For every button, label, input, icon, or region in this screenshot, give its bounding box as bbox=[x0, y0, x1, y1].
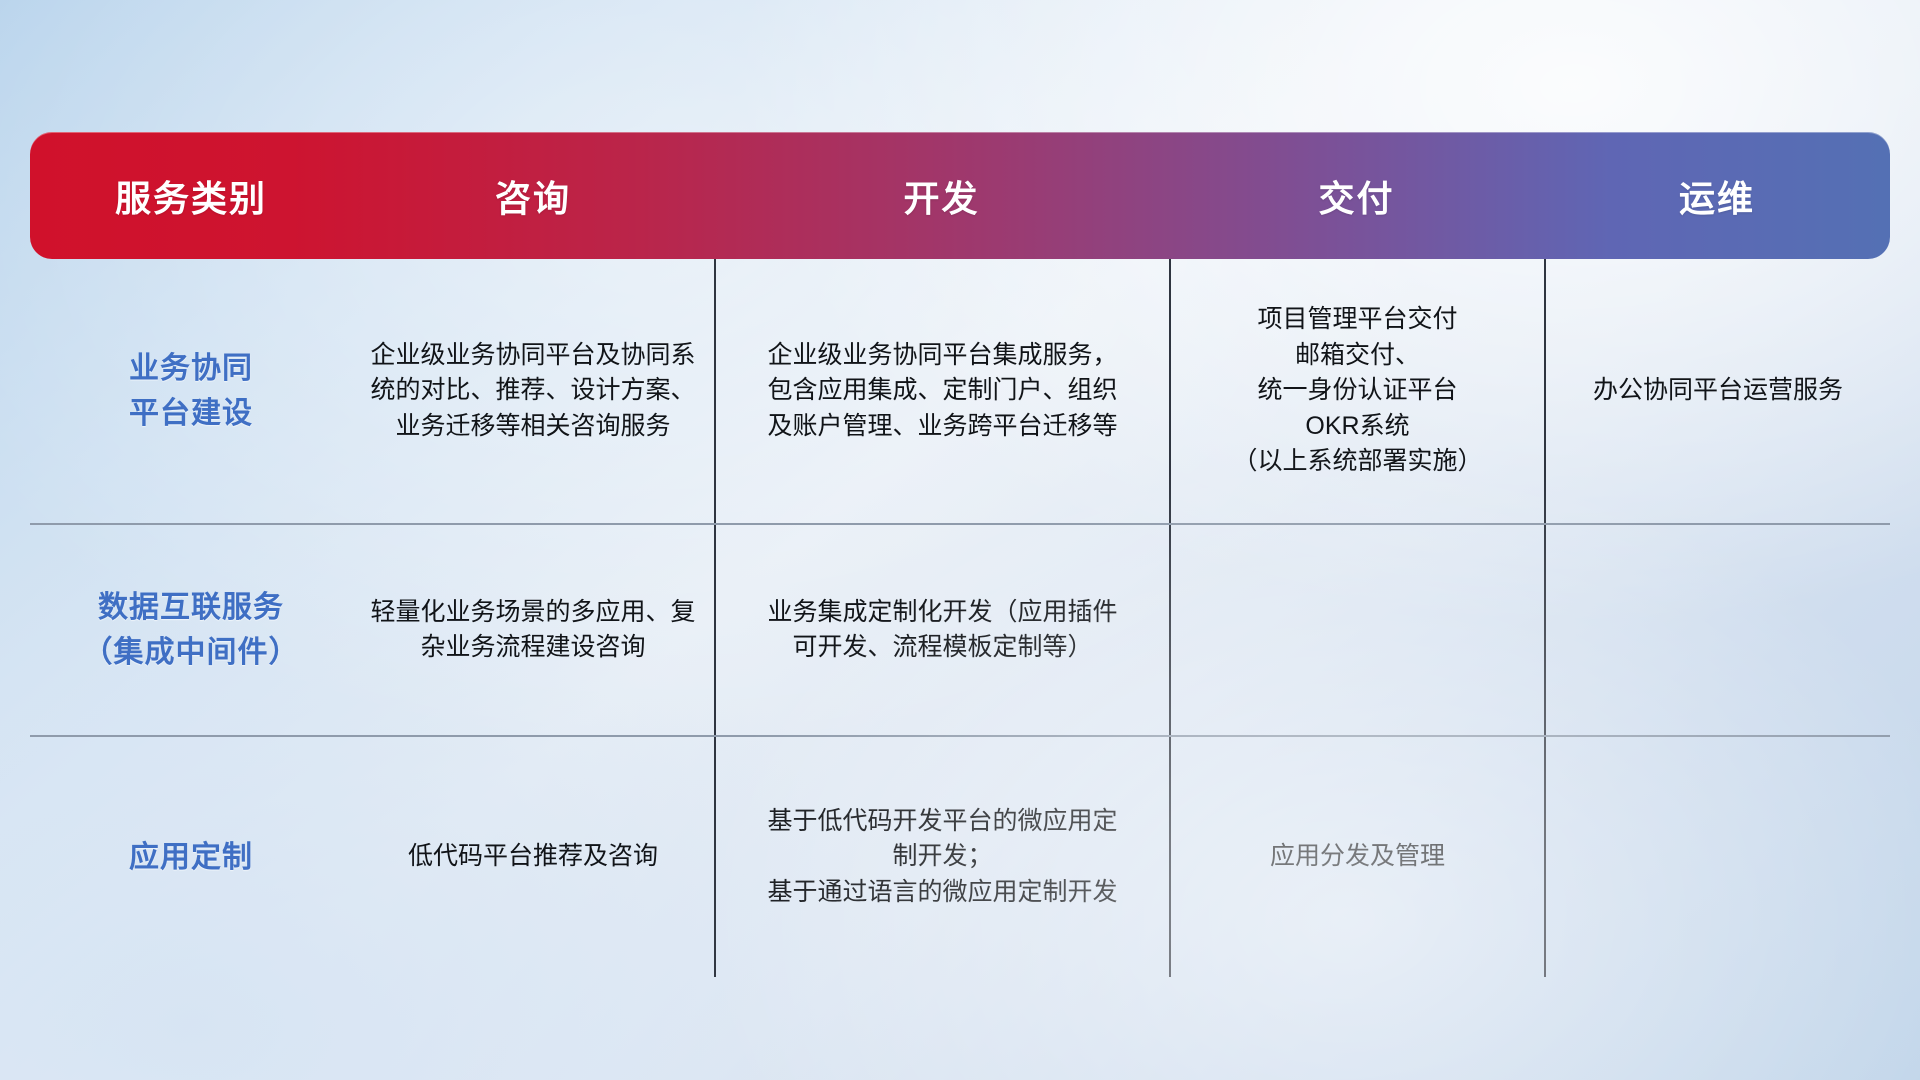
cell-operations bbox=[1544, 737, 1890, 977]
cell-consulting: 低代码平台推荐及咨询 bbox=[352, 737, 714, 977]
column-header-development: 开发 bbox=[714, 132, 1169, 259]
table-row: 应用定制 低代码平台推荐及咨询 基于低代码开发平台的微应用定 制开发； 基于通过… bbox=[30, 737, 1890, 977]
column-header-category-label: 服务类别 bbox=[115, 170, 267, 222]
column-header-operations: 运维 bbox=[1544, 132, 1890, 259]
column-header-consulting-label: 咨询 bbox=[495, 170, 571, 222]
cell-delivery: 项目管理平台交付 邮箱交付、 统一身份认证平台 OKR系统 （以上系统部署实施） bbox=[1169, 259, 1544, 523]
table-row: 数据互联服务 （集成中间件） 轻量化业务场景的多应用、复 杂业务流程建设咨询 业… bbox=[30, 525, 1890, 737]
table-row: 业务协同 平台建设 企业级业务协同平台及协同系 统的对比、推荐、设计方案、 业务… bbox=[30, 259, 1890, 525]
cell-development: 基于低代码开发平台的微应用定 制开发； 基于通过语言的微应用定制开发 bbox=[714, 737, 1169, 977]
cell-delivery bbox=[1169, 525, 1544, 735]
cell-development: 企业级业务协同平台集成服务， 包含应用集成、定制门户、组织 及账户管理、业务跨平… bbox=[714, 259, 1169, 523]
cell-operations bbox=[1544, 525, 1890, 735]
cell-delivery: 应用分发及管理 bbox=[1169, 737, 1544, 977]
cell-category: 业务协同 平台建设 bbox=[30, 259, 352, 523]
cell-operations: 办公协同平台运营服务 bbox=[1544, 259, 1890, 523]
cell-consulting: 企业级业务协同平台及协同系 统的对比、推荐、设计方案、 业务迁移等相关咨询服务 bbox=[352, 259, 714, 523]
column-header-category: 服务类别 bbox=[30, 132, 352, 259]
column-header-delivery-label: 交付 bbox=[1318, 170, 1394, 222]
cell-development: 业务集成定制化开发（应用插件 可开发、流程模板定制等） bbox=[714, 525, 1169, 735]
cell-category: 数据互联服务 （集成中间件） bbox=[30, 525, 352, 735]
cell-consulting: 轻量化业务场景的多应用、复 杂业务流程建设咨询 bbox=[352, 525, 714, 735]
slide-canvas: 服务类别 咨询 开发 交付 运维 业务协同 平台建设 企业级业务协同平台及协同系… bbox=[0, 0, 1920, 1080]
cell-category: 应用定制 bbox=[30, 737, 352, 977]
table-body: 业务协同 平台建设 企业级业务协同平台及协同系 统的对比、推荐、设计方案、 业务… bbox=[30, 259, 1890, 977]
column-header-delivery: 交付 bbox=[1169, 132, 1544, 259]
column-header-operations-label: 运维 bbox=[1679, 170, 1755, 222]
column-header-consulting: 咨询 bbox=[352, 132, 714, 259]
table-header-row: 服务类别 咨询 开发 交付 运维 bbox=[30, 132, 1890, 259]
column-header-development-label: 开发 bbox=[903, 170, 979, 222]
service-category-table: 服务类别 咨询 开发 交付 运维 业务协同 平台建设 企业级业务协同平台及协同系… bbox=[30, 132, 1890, 977]
